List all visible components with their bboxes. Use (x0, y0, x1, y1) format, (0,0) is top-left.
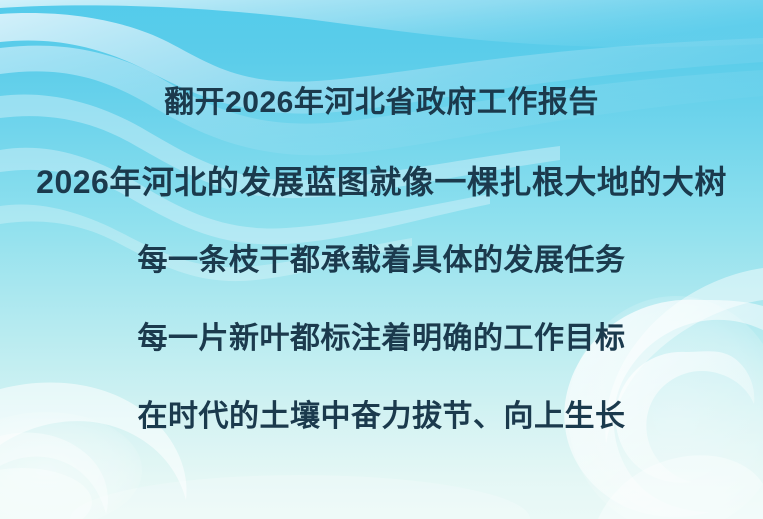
poster-canvas: 翻开2026年河北省政府工作报告 2026年河北的发展蓝图就像一棵扎根大地的大树… (0, 0, 763, 519)
poster-text-block: 翻开2026年河北省政府工作报告 2026年河北的发展蓝图就像一棵扎根大地的大树… (0, 0, 763, 519)
poster-line-1: 翻开2026年河北省政府工作报告 (0, 88, 763, 118)
poster-line-2: 2026年河北的发展蓝图就像一棵扎根大地的大树 (0, 166, 763, 198)
poster-line-3: 每一条枝干都承载着具体的发展任务 (0, 246, 763, 276)
poster-line-5: 在时代的土壤中奋力拔节、向上生长 (0, 402, 763, 432)
poster-line-4: 每一片新叶都标注着明确的工作目标 (0, 324, 763, 354)
